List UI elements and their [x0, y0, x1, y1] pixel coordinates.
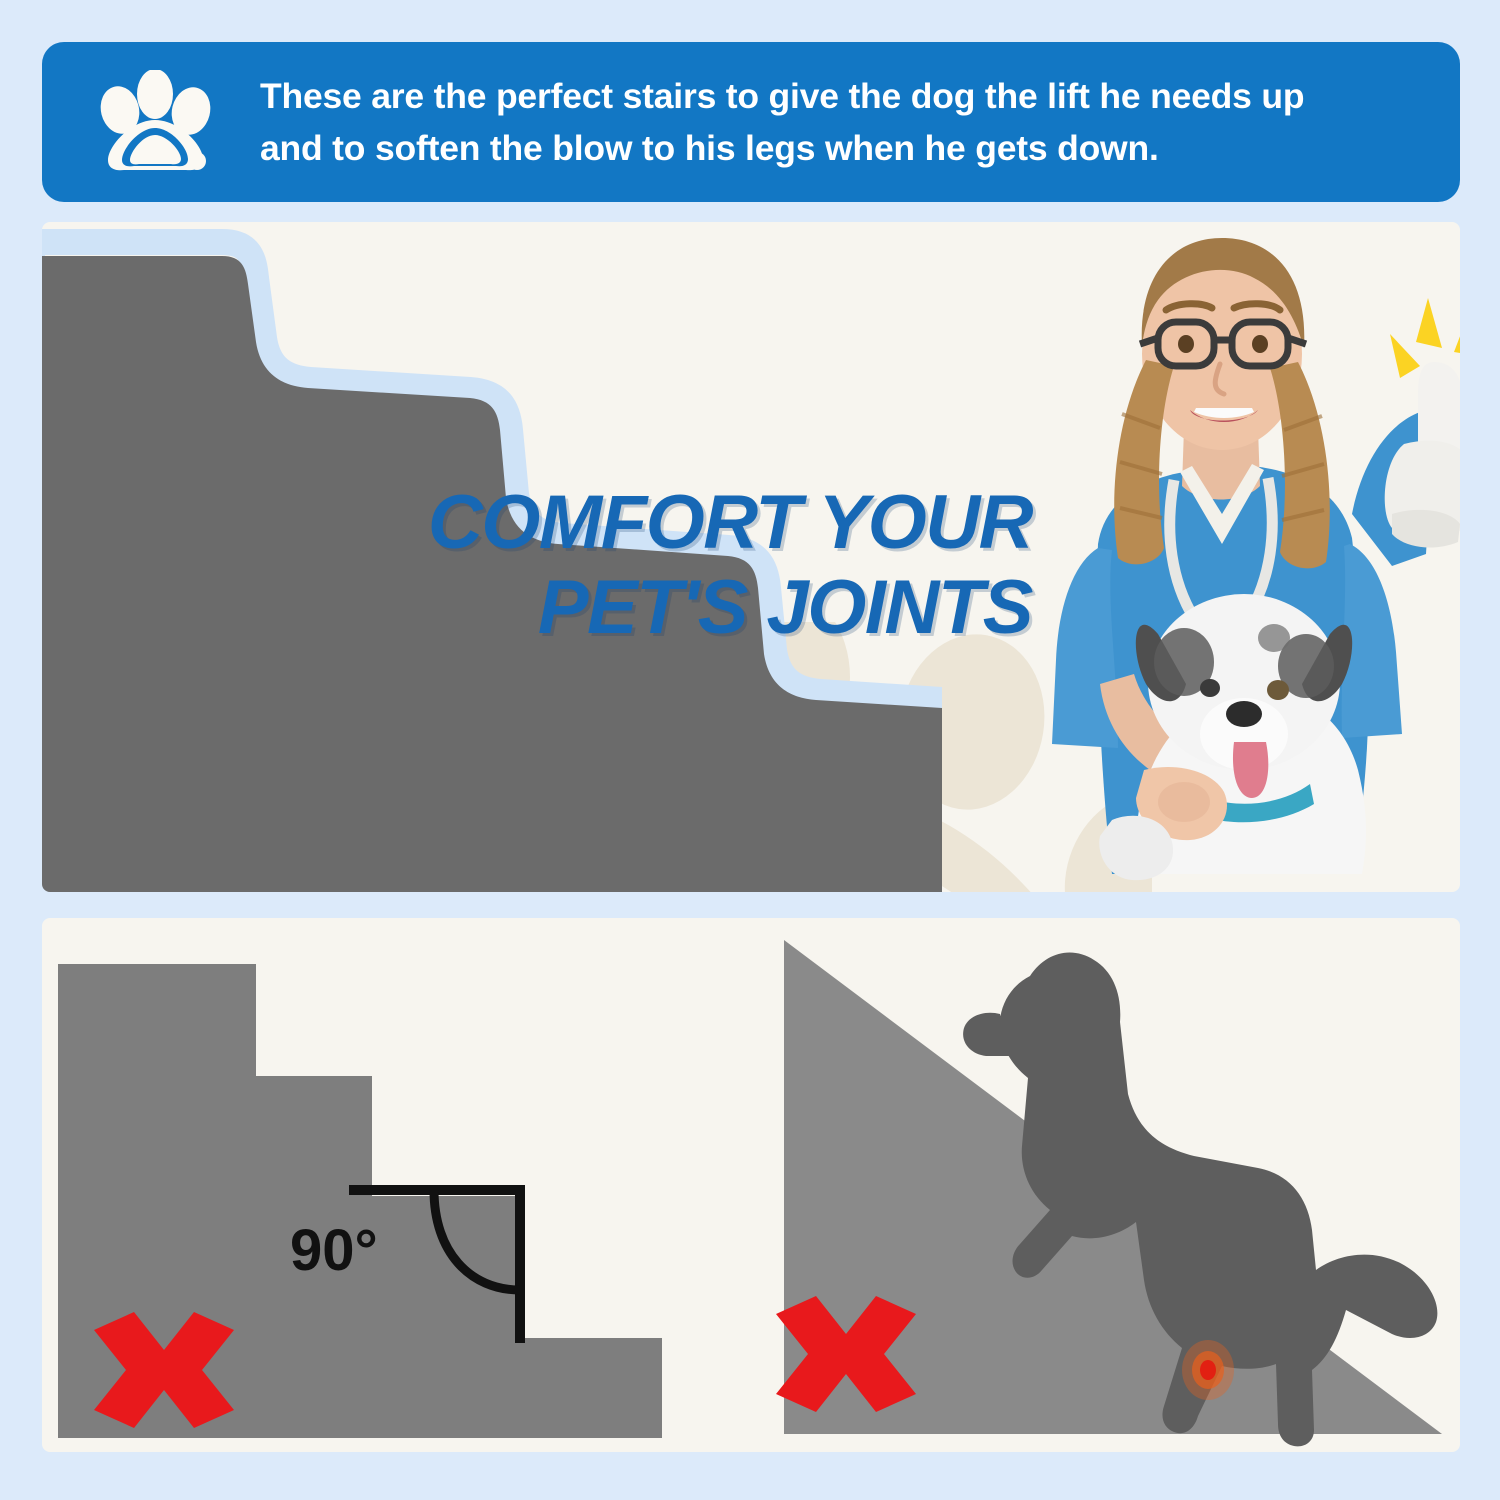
joint-pain-indicator	[1182, 1340, 1234, 1400]
steep-ramp-diagram	[742, 918, 1460, 1452]
tip-banner-line1: These are the perfect stairs to give the…	[260, 70, 1304, 122]
angle-label: 90°	[290, 1218, 378, 1283]
veterinarian-with-dog-photo	[922, 222, 1460, 892]
gloved-thumb-up-icon	[1385, 362, 1460, 548]
hero-title: COMFORT YOUR PET'S JOINTS	[292, 480, 1032, 650]
hero-title-line2: PET'S JOINTS	[292, 565, 1032, 650]
paw-print-icon	[98, 70, 214, 174]
hero-title-line1: COMFORT YOUR	[292, 480, 1032, 565]
tip-banner: These are the perfect stairs to give the…	[42, 42, 1460, 202]
comparison-panel: 90°	[42, 918, 1460, 1452]
tip-banner-text: These are the perfect stairs to give the…	[260, 70, 1304, 174]
tip-banner-line2: and to soften the blow to his legs when …	[260, 122, 1304, 174]
sharp-step-stairs-diagram: 90°	[42, 918, 742, 1452]
hero-panel: COMFORT YOUR PET'S JOINTS	[42, 222, 1460, 892]
